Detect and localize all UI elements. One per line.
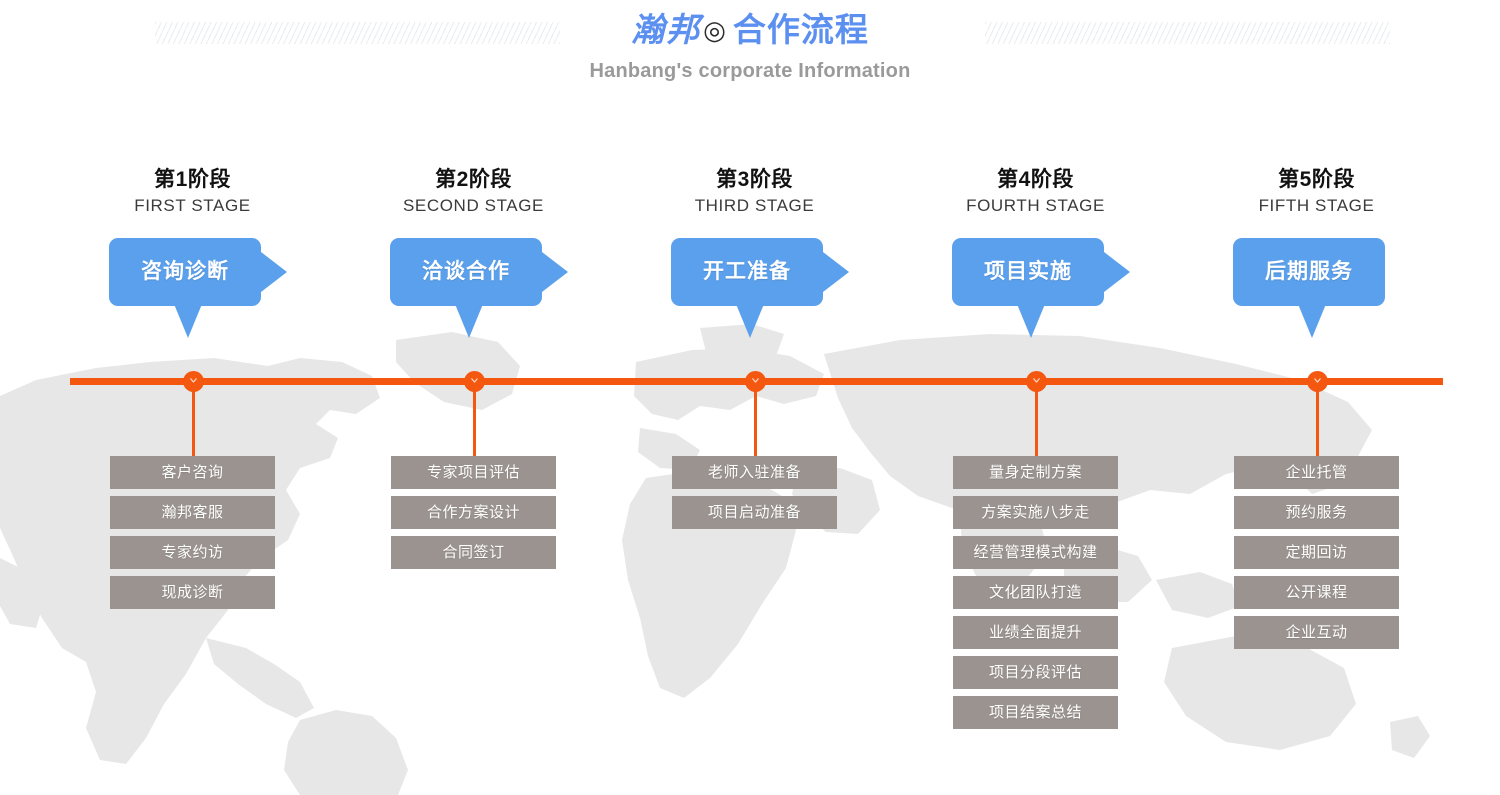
stage-title-cn: 第3阶段 bbox=[614, 163, 895, 193]
bubble-right-arrow-icon bbox=[1104, 252, 1130, 292]
stage-title-cn: 第4阶段 bbox=[895, 163, 1176, 193]
timeline-stem bbox=[192, 390, 195, 456]
chevron-down-icon bbox=[471, 377, 478, 384]
timeline-dot[interactable] bbox=[183, 371, 204, 392]
list-item[interactable]: 现成诊断 bbox=[110, 576, 275, 609]
chevron-down-icon bbox=[1314, 377, 1321, 384]
list-item[interactable]: 文化团队打造 bbox=[953, 576, 1118, 609]
list-item[interactable]: 量身定制方案 bbox=[953, 456, 1118, 489]
timeline-dot[interactable] bbox=[1026, 371, 1047, 392]
stage-title-cn: 第2阶段 bbox=[333, 163, 614, 193]
bubble-tail-icon bbox=[1017, 304, 1045, 338]
list-item[interactable]: 项目分段评估 bbox=[953, 656, 1118, 689]
list-item[interactable]: 项目启动准备 bbox=[672, 496, 837, 529]
stage-item-list: 企业托管 预约服务 定期回访 公开课程 企业互动 bbox=[1176, 456, 1457, 656]
timeline-stem bbox=[1035, 390, 1038, 456]
timeline-stem bbox=[473, 390, 476, 456]
list-item[interactable]: 项目结案总结 bbox=[953, 696, 1118, 729]
list-item[interactable]: 公开课程 bbox=[1234, 576, 1399, 609]
list-item[interactable]: 专家约访 bbox=[110, 536, 275, 569]
bubble-body: 后期服务 bbox=[1233, 238, 1385, 306]
chevron-down-icon bbox=[1033, 377, 1040, 384]
list-item[interactable]: 方案实施八步走 bbox=[953, 496, 1118, 529]
bubble-right-arrow-icon bbox=[261, 252, 287, 292]
stage-title-cn: 第1阶段 bbox=[52, 163, 333, 193]
bubble-body: 洽谈合作 bbox=[390, 238, 542, 306]
bubble-tail-icon bbox=[736, 304, 764, 338]
timeline-dot[interactable] bbox=[1307, 371, 1328, 392]
bubble-label: 洽谈合作 bbox=[390, 238, 542, 306]
timeline-dot[interactable] bbox=[464, 371, 485, 392]
stage-title-en: FIRST STAGE bbox=[52, 196, 333, 216]
chevron-down-icon bbox=[190, 377, 197, 384]
stage-bubble[interactable]: 咨询诊断 bbox=[52, 238, 333, 348]
list-item[interactable]: 业绩全面提升 bbox=[953, 616, 1118, 649]
bubble-label: 咨询诊断 bbox=[109, 238, 261, 306]
list-item[interactable]: 专家项目评估 bbox=[391, 456, 556, 489]
stage-bubble[interactable]: 项目实施 bbox=[895, 238, 1176, 348]
bubble-tail-icon bbox=[1298, 304, 1326, 338]
stage-title-cn: 第5阶段 bbox=[1176, 163, 1457, 193]
stage-item-list: 老师入驻准备 项目启动准备 bbox=[614, 456, 895, 536]
stage-title-en: THIRD STAGE bbox=[614, 196, 895, 216]
list-item[interactable]: 企业托管 bbox=[1234, 456, 1399, 489]
bubble-label: 开工准备 bbox=[671, 238, 823, 306]
bubble-label: 项目实施 bbox=[952, 238, 1104, 306]
stage-bubble[interactable]: 后期服务 bbox=[1176, 238, 1457, 348]
chevron-down-icon bbox=[752, 377, 759, 384]
stage-bubble[interactable]: 开工准备 bbox=[614, 238, 895, 348]
stage-title-en: FIFTH STAGE bbox=[1176, 196, 1457, 216]
bubble-tail-icon bbox=[455, 304, 483, 338]
stage-item-list: 专家项目评估 合作方案设计 合同签订 bbox=[333, 456, 614, 576]
list-item[interactable]: 经营管理模式构建 bbox=[953, 536, 1118, 569]
list-item[interactable]: 老师入驻准备 bbox=[672, 456, 837, 489]
timeline-stem bbox=[1316, 390, 1319, 456]
timeline-stem bbox=[754, 390, 757, 456]
stage-item-list: 客户咨询 瀚邦客服 专家约访 现成诊断 bbox=[52, 456, 333, 616]
stage-title-en: FOURTH STAGE bbox=[895, 196, 1176, 216]
bubble-body: 项目实施 bbox=[952, 238, 1104, 306]
bubble-right-arrow-icon bbox=[823, 252, 849, 292]
list-item[interactable]: 预约服务 bbox=[1234, 496, 1399, 529]
bubble-body: 开工准备 bbox=[671, 238, 823, 306]
bubble-tail-icon bbox=[174, 304, 202, 338]
stage-columns: 第1阶段 FIRST STAGE 咨询诊断 客户咨询 瀚邦客服 专家约访 现成诊… bbox=[0, 0, 1500, 795]
list-item[interactable]: 瀚邦客服 bbox=[110, 496, 275, 529]
list-item[interactable]: 客户咨询 bbox=[110, 456, 275, 489]
list-item[interactable]: 合作方案设计 bbox=[391, 496, 556, 529]
infographic-canvas: 瀚邦◎合作流程 Hanbang's corporate Information … bbox=[0, 0, 1500, 795]
stage-bubble[interactable]: 洽谈合作 bbox=[333, 238, 614, 348]
stage-item-list: 量身定制方案 方案实施八步走 经营管理模式构建 文化团队打造 业绩全面提升 项目… bbox=[895, 456, 1176, 736]
bubble-body: 咨询诊断 bbox=[109, 238, 261, 306]
bubble-label: 后期服务 bbox=[1233, 238, 1385, 306]
list-item[interactable]: 合同签订 bbox=[391, 536, 556, 569]
stage-title-en: SECOND STAGE bbox=[333, 196, 614, 216]
timeline-dot[interactable] bbox=[745, 371, 766, 392]
list-item[interactable]: 企业互动 bbox=[1234, 616, 1399, 649]
bubble-right-arrow-icon bbox=[542, 252, 568, 292]
list-item[interactable]: 定期回访 bbox=[1234, 536, 1399, 569]
